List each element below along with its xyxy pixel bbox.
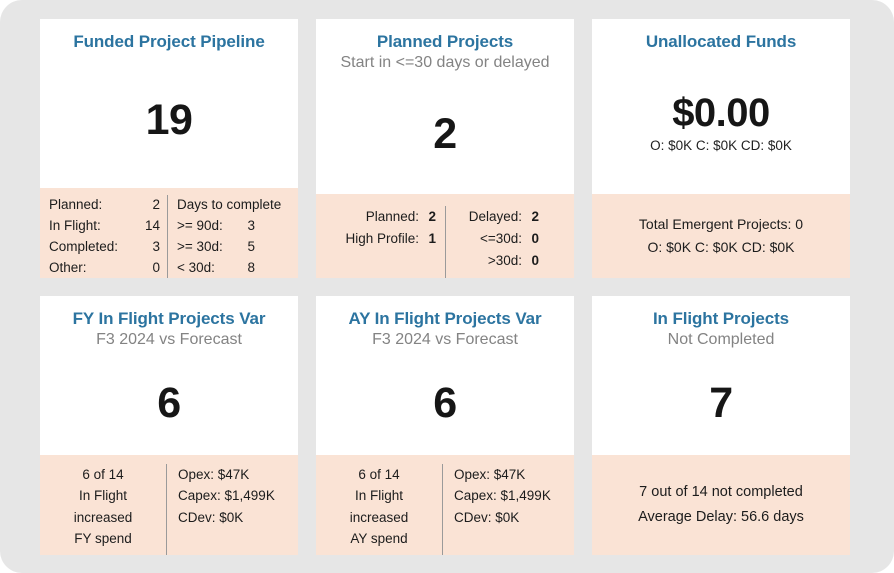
kpi-card-ay-in-flight-projects-var[interactable]: AY In Flight Projects Var F3 2024 vs For… (316, 296, 574, 555)
card-value-wrap: 6 (40, 351, 298, 455)
footer-left-column: Planned: 2 High Profile: 1 (316, 206, 445, 278)
footer-line: CDev: $0K (454, 507, 551, 528)
card-subtitle: F3 2024 vs Forecast (368, 330, 522, 351)
footer-row-label: Other: (49, 258, 152, 278)
footer-row-value: 2 (522, 206, 539, 228)
footer-line: 7 out of 14 not completed (639, 480, 803, 505)
card-value-wrap: 6 (316, 351, 574, 455)
footer-row-value: 0 (152, 258, 167, 278)
card-value-wrap: $0.00 O: $0K C: $0K CD: $0K (592, 52, 850, 194)
footer-left-column: Planned: 2 In Flight: 14 Completed: 3 Ot… (40, 195, 167, 278)
footer-line: Opex: $47K (178, 464, 275, 485)
card-value-breakdown: O: $0K C: $0K CD: $0K (650, 138, 792, 153)
kpi-card-unallocated-funds[interactable]: Unallocated Funds $0.00 O: $0K C: $0K CD… (592, 19, 850, 278)
footer-row-label: <=30d: (456, 228, 522, 250)
footer-row-value: 0 (522, 228, 539, 250)
footer-line: AY spend (316, 528, 442, 549)
card-body: Funded Project Pipeline 19 (40, 19, 298, 188)
kpi-card-funded-project-pipeline[interactable]: Funded Project Pipeline 19 Planned: 2 In… (40, 19, 298, 278)
kpi-card-grid: Funded Project Pipeline 19 Planned: 2 In… (40, 19, 850, 555)
footer-line: CDev: $0K (178, 507, 275, 528)
footer-row-label: High Profile: (345, 228, 419, 250)
footer-row: >30d: 0 (456, 250, 539, 272)
footer-line: Average Delay: 56.6 days (638, 505, 804, 530)
card-title: Unallocated Funds (640, 31, 802, 52)
card-body: AY In Flight Projects Var F3 2024 vs For… (316, 296, 574, 455)
footer-right-heading: Days to complete (177, 195, 281, 216)
footer-row-value: 5 (233, 237, 255, 258)
footer-row-value: 2 (152, 195, 167, 216)
footer-line: Total Emergent Projects: 0 (639, 213, 803, 236)
footer-row: < 30d: 8 (177, 258, 281, 278)
card-value: 19 (146, 99, 193, 142)
footer-line: 6 of 14 (316, 464, 442, 485)
footer-line: increased (40, 507, 166, 528)
footer-row: >= 30d: 5 (177, 237, 281, 258)
footer-row-label: Planned: (366, 206, 419, 228)
card-title: Funded Project Pipeline (67, 31, 270, 52)
footer-line: 6 of 14 (40, 464, 166, 485)
dashboard-page: Funded Project Pipeline 19 Planned: 2 In… (0, 0, 894, 573)
card-footer: Total Emergent Projects: 0 O: $0K C: $0K… (592, 194, 850, 278)
card-footer: 6 of 14 In Flight increased FY spend Ope… (40, 455, 298, 555)
card-value: 7 (709, 382, 732, 425)
footer-row-value: 1 (419, 228, 436, 250)
footer-row: Planned: 2 (316, 206, 436, 228)
kpi-card-planned-projects[interactable]: Planned Projects Start in <=30 days or d… (316, 19, 574, 278)
card-title: FY In Flight Projects Var (67, 308, 272, 329)
card-body: Unallocated Funds $0.00 O: $0K C: $0K CD… (592, 19, 850, 194)
footer-right-column: Days to complete >= 90d: 3 >= 30d: 5 < 3… (168, 195, 281, 278)
card-value: 6 (433, 382, 456, 425)
footer-line: Capex: $1,499K (454, 485, 551, 506)
footer-row: Completed: 3 (49, 237, 167, 258)
footer-row-value: 0 (522, 250, 539, 272)
card-body: In Flight Projects Not Completed 7 (592, 296, 850, 455)
footer-row-label: Delayed: (456, 206, 522, 228)
footer-line: O: $0K C: $0K CD: $0K (647, 236, 794, 259)
card-subtitle: F3 2024 vs Forecast (92, 330, 246, 351)
footer-right-column: Opex: $47K Capex: $1,499K CDev: $0K (443, 464, 551, 555)
footer-row: >= 90d: 3 (177, 216, 281, 237)
card-subtitle: Start in <=30 days or delayed (336, 53, 553, 74)
card-body: Planned Projects Start in <=30 days or d… (316, 19, 574, 194)
card-title: Planned Projects (371, 31, 519, 52)
footer-line: In Flight (316, 485, 442, 506)
footer-row-label: >30d: (456, 250, 522, 272)
footer-row: Other: 0 (49, 258, 167, 278)
card-footer: Planned: 2 In Flight: 14 Completed: 3 Ot… (40, 188, 298, 278)
footer-right-column: Opex: $47K Capex: $1,499K CDev: $0K (167, 464, 275, 555)
card-footer: Planned: 2 High Profile: 1 Delayed: 2 (316, 194, 574, 278)
footer-row-label: Completed: (49, 237, 152, 258)
card-value: 2 (433, 113, 456, 156)
card-value: $0.00 (672, 93, 770, 133)
footer-row: Delayed: 2 (456, 206, 539, 228)
card-footer: 7 out of 14 not completed Average Delay:… (592, 455, 850, 555)
footer-left-column: 6 of 14 In Flight increased AY spend (316, 464, 442, 555)
card-value-wrap: 2 (316, 74, 574, 194)
footer-right-column: Delayed: 2 <=30d: 0 >30d: 0 (446, 206, 539, 278)
card-value-wrap: 19 (40, 52, 298, 188)
footer-left-column: 6 of 14 In Flight increased FY spend (40, 464, 166, 555)
footer-row-label: In Flight: (49, 216, 145, 237)
footer-row-value: 3 (152, 237, 167, 258)
footer-row: In Flight: 14 (49, 216, 167, 237)
footer-row: High Profile: 1 (316, 228, 436, 250)
footer-row-label: >= 30d: (177, 237, 233, 258)
card-body: FY In Flight Projects Var F3 2024 vs For… (40, 296, 298, 455)
footer-row-value: 2 (419, 206, 436, 228)
card-title: In Flight Projects (647, 308, 795, 329)
card-value-wrap: 7 (592, 351, 850, 455)
footer-row-value: 14 (145, 216, 167, 237)
footer-line: increased (316, 507, 442, 528)
footer-line: Opex: $47K (454, 464, 551, 485)
footer-row-label: >= 90d: (177, 216, 233, 237)
footer-line: Capex: $1,499K (178, 485, 275, 506)
card-value: 6 (157, 382, 180, 425)
footer-line: FY spend (40, 528, 166, 549)
footer-row-value: 8 (233, 258, 255, 278)
footer-row: <=30d: 0 (456, 228, 539, 250)
footer-row-label: < 30d: (177, 258, 233, 278)
kpi-card-in-flight-projects[interactable]: In Flight Projects Not Completed 7 7 out… (592, 296, 850, 555)
card-footer: 6 of 14 In Flight increased AY spend Ope… (316, 455, 574, 555)
kpi-card-fy-in-flight-projects-var[interactable]: FY In Flight Projects Var F3 2024 vs For… (40, 296, 298, 555)
footer-row: Planned: 2 (49, 195, 167, 216)
card-subtitle: Not Completed (664, 330, 779, 351)
footer-row-value: 3 (233, 216, 255, 237)
footer-line: In Flight (40, 485, 166, 506)
card-title: AY In Flight Projects Var (342, 308, 547, 329)
footer-row-label: Planned: (49, 195, 152, 216)
